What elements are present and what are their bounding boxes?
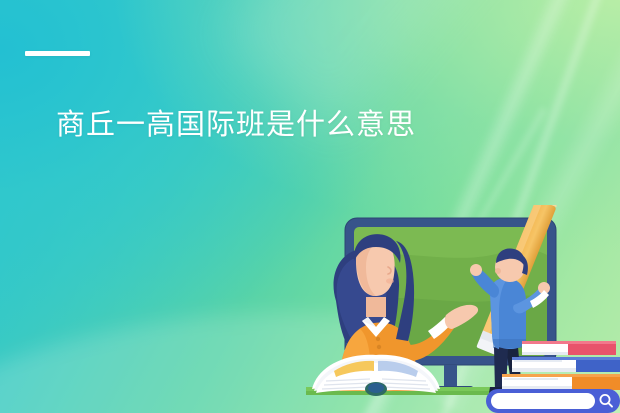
education-illustration — [300, 205, 620, 413]
search-bar[interactable] — [486, 389, 620, 413]
title-accent-rule — [25, 51, 90, 56]
page-title: 商丘一高国际班是什么意思 — [56, 105, 416, 145]
search-icon[interactable] — [596, 391, 616, 411]
search-input — [491, 393, 595, 409]
page-canvas: 商丘一高国际班是什么意思 — [0, 0, 620, 413]
book-third — [502, 374, 620, 390]
book-second — [512, 357, 620, 372]
book-top — [522, 341, 616, 355]
